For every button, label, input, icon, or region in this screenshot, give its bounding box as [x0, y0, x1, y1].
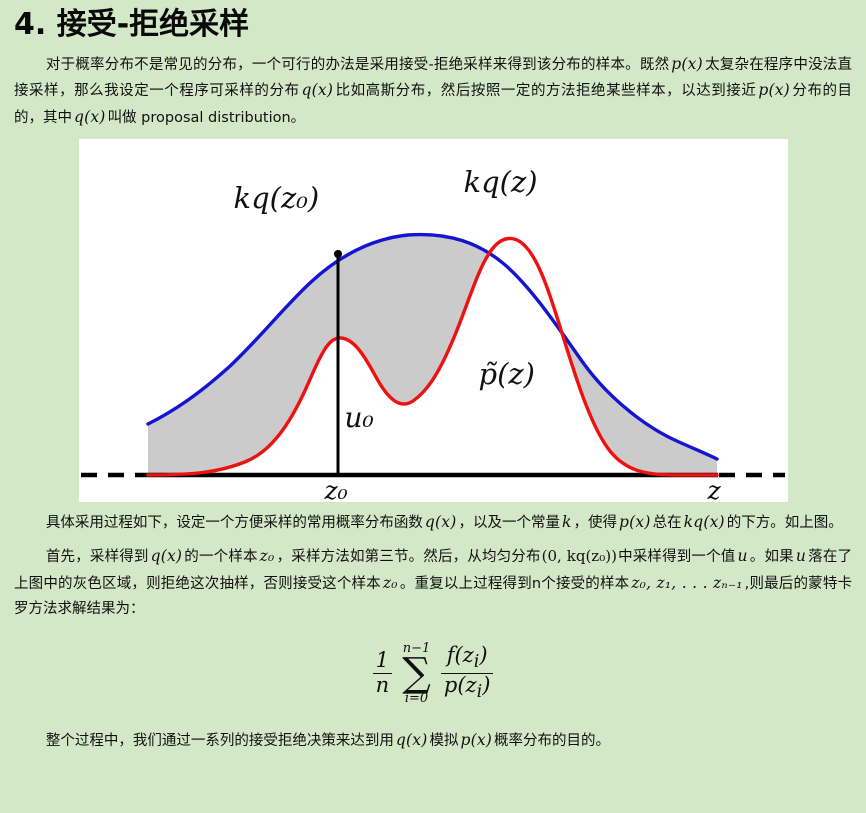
formula-num-1: 1: [373, 649, 393, 674]
figure-label-kq-z0: kq(z₀): [234, 181, 320, 215]
formula-num-fzi: f(zi): [441, 644, 494, 674]
formula-fraction-1-over-n: 1 n: [373, 649, 393, 697]
p3-text-1: 首先，采样得到: [46, 549, 149, 565]
paragraph-4: 整个过程中，我们通过一系列的接受拒绝决策来达到用q(x)模拟p(x)概率分布的目…: [14, 727, 852, 754]
p3-text-3: ，采样方法如第三节。然后，从均匀分布: [276, 549, 540, 565]
monte-carlo-formula: 1 n n−1 ∑ i=0 f(zi) p(zi): [14, 642, 852, 705]
formula-sum-lower: i=0: [402, 692, 431, 705]
p2-math-2: k: [560, 513, 574, 531]
p1-text-1: 对于概率分布不是常见的分布，一个可行的办法是采用接受-拒绝采样来得到该分布的样本…: [46, 57, 669, 73]
page-title: 4. 接受-拒绝采样: [14, 6, 852, 44]
z-axis-text: z: [708, 476, 721, 502]
p4-text-2: 模拟: [429, 733, 458, 749]
p3-text-7: 。重复以上过程得到n个接受的样本: [400, 576, 630, 592]
p2-math-1: q(x): [423, 513, 459, 531]
p2-math-4: kq(x): [682, 513, 727, 531]
kq-z-text: kq(z): [464, 165, 538, 199]
formula-den-close: ): [482, 673, 490, 697]
z0-top-dot: [334, 250, 342, 258]
p3-text-4: 中采样得到一个值: [618, 549, 736, 565]
article-page: 4. 接受-拒绝采样 对于概率分布不是常见的分布，一个可行的办法是采用接受-拒绝…: [0, 6, 866, 813]
paragraph-1: 对于概率分布不是常见的分布，一个可行的办法是采用接受-拒绝采样来得到该分布的样本…: [14, 51, 852, 132]
rejection-sampling-figure: kq(z₀) kq(z) p̃(z) u₀ z₀ z: [79, 139, 788, 502]
p2-text-4: 总在: [653, 515, 682, 531]
p3-math-2: z₀: [258, 547, 277, 565]
kq-z0-text: kq(z₀): [234, 181, 320, 215]
u0-text: u₀: [345, 401, 374, 434]
p1-math-3: p(x): [756, 81, 792, 99]
p2-math-3: p(x): [617, 513, 653, 531]
paragraph-3: 首先，采样得到q(x)的一个样本z₀，采样方法如第三节。然后，从均匀分布(0, …: [14, 543, 852, 622]
p4-math-2: p(x): [458, 731, 494, 749]
p2-text-3: ，使得: [574, 515, 618, 531]
formula-num-fz: f(z: [447, 643, 474, 667]
formula-fraction-f-over-p: f(zi) p(zi): [441, 644, 494, 703]
p4-text-3: 概率分布的目的。: [494, 733, 610, 749]
p4-math-1: q(x): [394, 731, 430, 749]
p-tilde-z-text: p̃(z): [479, 357, 535, 391]
formula-summation: n−1 ∑ i=0: [402, 642, 431, 705]
z0-axis-text: z₀: [325, 476, 348, 502]
figure-svg: [79, 139, 788, 502]
p3-math-1: q(x): [149, 547, 185, 565]
p3-math-7: z₀, z₁, . . . zₙ₋₁: [629, 574, 744, 592]
figure-label-kq-z: kq(z): [464, 165, 538, 199]
p2-text-5: 的下方。如上图。: [727, 515, 843, 531]
paragraph-2: 具体采用过程如下，设定一个方便采样的常用概率分布函数q(x)，以及一个常量k，使…: [14, 509, 852, 536]
sigma-icon: ∑: [402, 655, 431, 692]
figure-label-z-axis: z: [708, 476, 721, 502]
p1-text-5: 叫做 proposal distribution。: [108, 110, 306, 126]
formula-den-pz: p(z: [444, 673, 477, 697]
formula-den-n: n: [373, 674, 393, 698]
p1-math-1: p(x): [669, 55, 705, 73]
p1-math-2: q(x): [300, 81, 336, 99]
p3-math-5: u: [794, 547, 808, 565]
p3-text-2: 的一个样本: [184, 549, 258, 565]
p4-text-1: 整个过程中，我们通过一系列的接受拒绝决策来达到用: [46, 733, 394, 749]
p3-math-6: z₀: [381, 574, 400, 592]
formula-num-close: ): [479, 643, 487, 667]
p2-text-1: 具体采用过程如下，设定一个方便采样的常用概率分布函数: [46, 515, 423, 531]
figure-label-z0-axis: z₀: [325, 476, 348, 502]
p2-text-2: ，以及一个常量: [458, 515, 560, 531]
p1-math-4: q(x): [72, 108, 108, 126]
p3-math-3: (0, kq(z₀)): [541, 547, 618, 565]
p3-text-5: 。如果: [750, 549, 794, 565]
figure-label-p-tilde-z: p̃(z): [479, 357, 535, 391]
p1-text-3: 比如高斯分布，然后按照一定的方法拒绝某些样本，以达到接近: [335, 83, 756, 99]
figure-label-u0: u₀: [345, 401, 374, 434]
p3-math-4: u: [735, 547, 749, 565]
formula-den-pzi: p(zi): [441, 674, 494, 703]
